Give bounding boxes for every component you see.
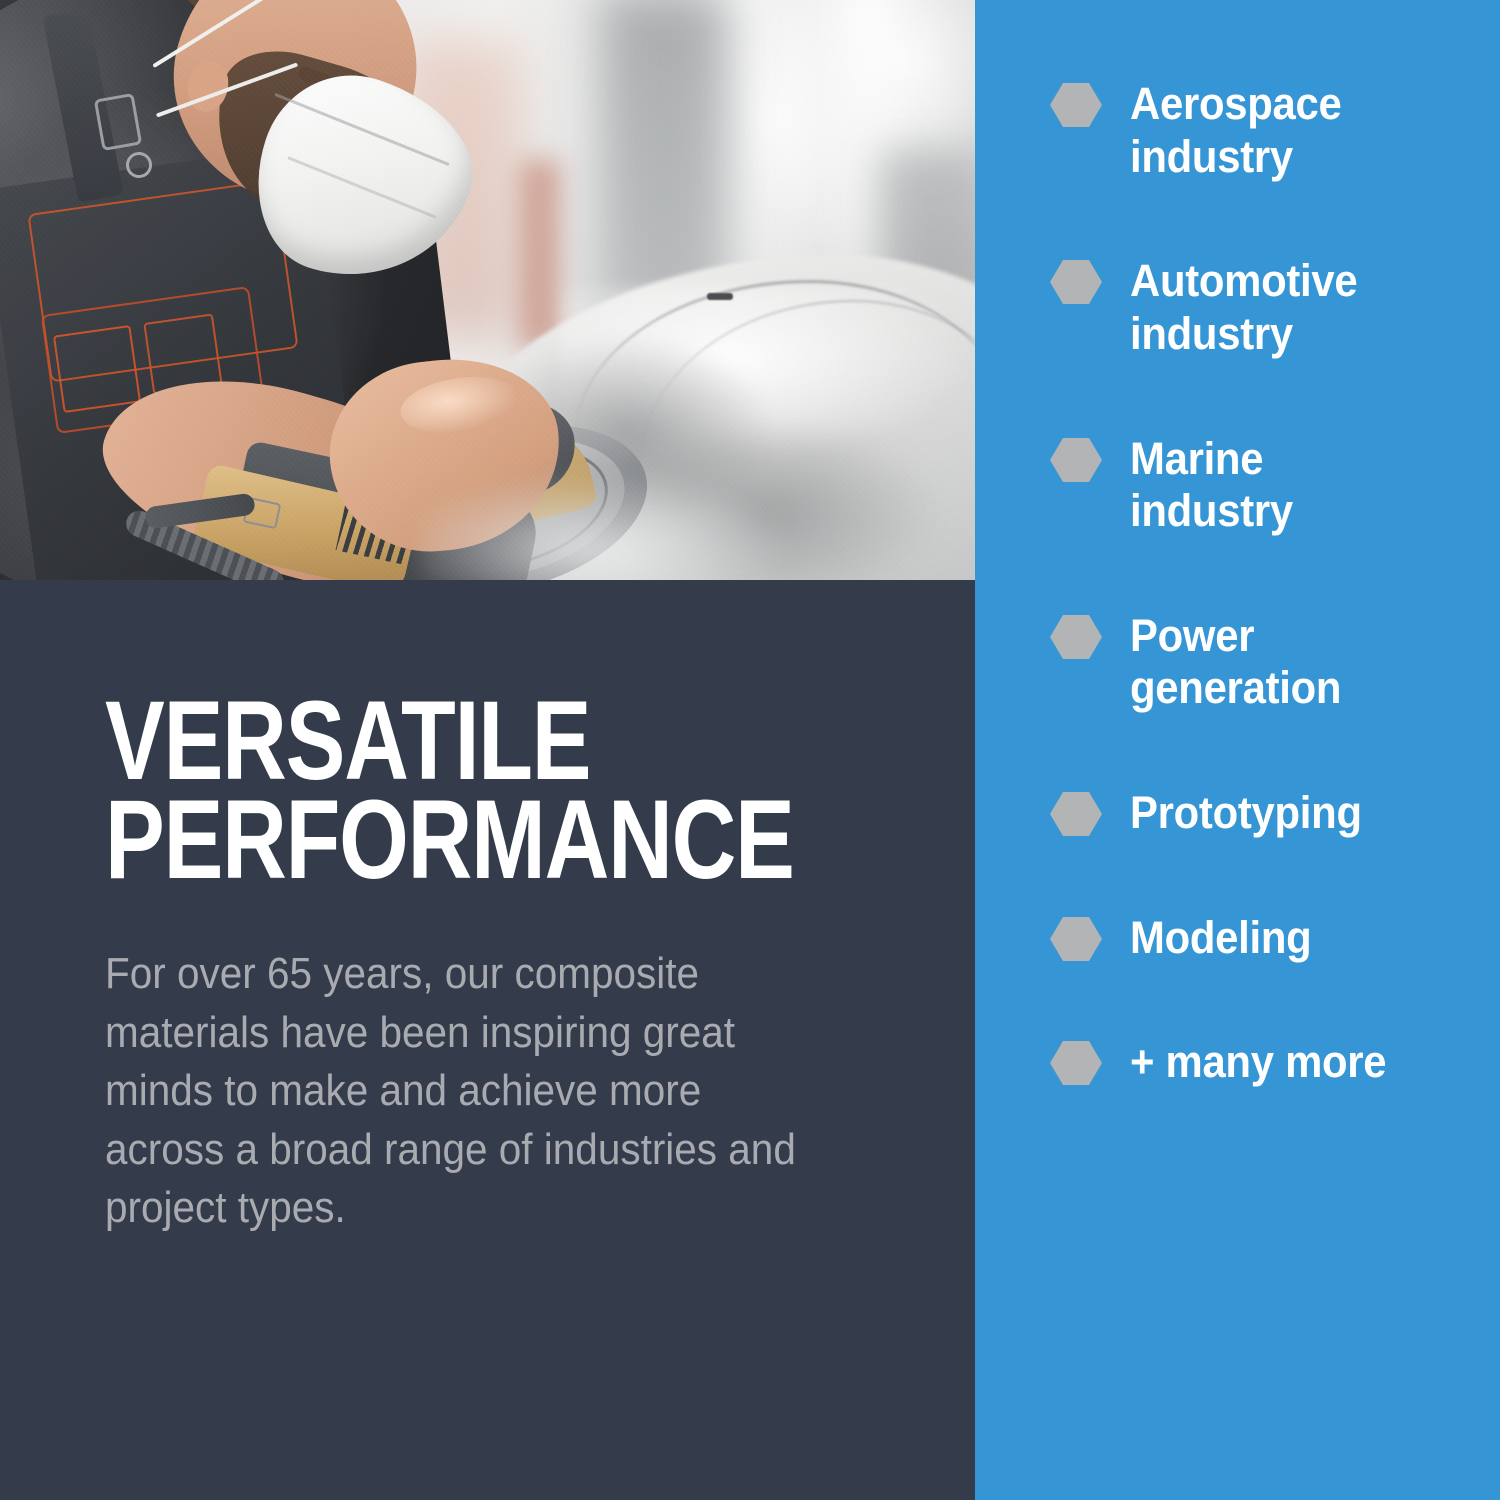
list-item[interactable]: Modeling bbox=[1050, 912, 1470, 965]
list-item-label: Prototyping bbox=[1130, 787, 1362, 840]
page-title-line-2: PERFORMANCE bbox=[105, 791, 725, 890]
list-item-label: Marine industry bbox=[1130, 433, 1293, 538]
list-item-label: Modeling bbox=[1130, 912, 1311, 965]
hexagon-icon bbox=[1050, 259, 1102, 305]
page-title: VERSATILE PERFORMANCE bbox=[105, 692, 725, 889]
list-item-label: Aerospace industry bbox=[1130, 78, 1342, 183]
list-item[interactable]: Automotive industry bbox=[1050, 255, 1470, 360]
list-item[interactable]: + many more bbox=[1050, 1036, 1470, 1089]
list-item[interactable]: Power generation bbox=[1050, 610, 1470, 715]
hexagon-icon bbox=[1050, 614, 1102, 660]
industries-list: Aerospace industry Automotive industry M… bbox=[1050, 78, 1470, 1089]
list-item-label: + many more bbox=[1130, 1036, 1386, 1089]
left-column: VERSATILE PERFORMANCE For over 65 years,… bbox=[0, 0, 975, 1500]
list-item[interactable]: Prototyping bbox=[1050, 787, 1470, 840]
poster: VERSATILE PERFORMANCE For over 65 years,… bbox=[0, 0, 1500, 1500]
list-item[interactable]: Aerospace industry bbox=[1050, 78, 1470, 183]
hexagon-icon bbox=[1050, 916, 1102, 962]
worker-sanding-photo bbox=[0, 0, 975, 580]
hexagon-icon bbox=[1050, 82, 1102, 128]
industries-panel: Aerospace industry Automotive industry M… bbox=[975, 0, 1500, 1500]
body-paragraph: For over 65 years, our composite materia… bbox=[105, 945, 804, 1238]
dark-text-panel: VERSATILE PERFORMANCE For over 65 years,… bbox=[0, 580, 975, 1500]
list-item-label: Power generation bbox=[1130, 610, 1341, 715]
list-item-label: Automotive industry bbox=[1130, 255, 1357, 360]
hexagon-icon bbox=[1050, 1040, 1102, 1086]
hexagon-icon bbox=[1050, 791, 1102, 837]
page-title-line-1: VERSATILE bbox=[105, 692, 725, 791]
photo-grain-overlay bbox=[0, 0, 975, 580]
hexagon-icon bbox=[1050, 437, 1102, 483]
list-item[interactable]: Marine industry bbox=[1050, 433, 1470, 538]
